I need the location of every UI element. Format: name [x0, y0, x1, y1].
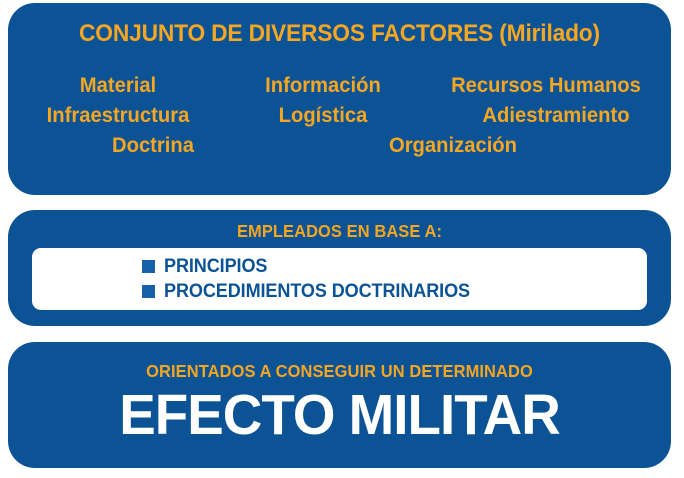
factor-recursos-humanos: Recursos Humanos — [428, 73, 665, 98]
factor-organizacion: Organización — [317, 133, 590, 158]
efecto-panel-headline: EFECTO MILITAR — [21, 386, 657, 446]
list-item: PROCEDIMIENTOS DOCTRINARIOS — [142, 279, 647, 304]
square-bullet-icon — [142, 285, 155, 298]
factor-material: Material — [15, 73, 222, 98]
square-bullet-icon — [142, 260, 155, 273]
factor-adiestramiento: Adiestramiento — [438, 103, 675, 128]
empleados-inner-panel: PRINCIPIOS PROCEDIMIENTOS DOCTRINARIOS — [32, 248, 647, 310]
efecto-militar-panel: ORIENTADOS A CONSEGUIR UN DETERMINADO EF… — [8, 342, 671, 468]
factor-informacion: Información — [234, 73, 413, 98]
factor-logistica: Logística — [234, 103, 413, 128]
empleados-bullet-list: PRINCIPIOS PROCEDIMIENTOS DOCTRINARIOS — [142, 254, 647, 304]
factors-panel: CONJUNTO DE DIVERSOS FACTORES (Mirilado)… — [8, 3, 671, 195]
efecto-panel-subtitle: ORIENTADOS A CONSEGUIR UN DETERMINADO — [28, 361, 651, 382]
empleados-panel-title: EMPLEADOS EN BASE A: — [28, 221, 651, 242]
factor-infraestructura: Infraestructura — [15, 103, 222, 128]
bullet-label-principios: PRINCIPIOS — [164, 256, 267, 278]
factors-panel-title: CONJUNTO DE DIVERSOS FACTORES (Mirilado) — [31, 20, 648, 48]
factor-doctrina: Doctrina — [17, 133, 290, 158]
empleados-panel: EMPLEADOS EN BASE A: PRINCIPIOS PROCEDIM… — [8, 210, 671, 326]
bullet-label-procedimientos-doctrinarios: PROCEDIMIENTOS DOCTRINARIOS — [164, 281, 470, 303]
list-item: PRINCIPIOS — [142, 254, 647, 279]
factors-list: Material Infraestructura Doctrina Inform… — [8, 69, 671, 179]
diagram-canvas: CONJUNTO DE DIVERSOS FACTORES (Mirilado)… — [0, 0, 684, 478]
